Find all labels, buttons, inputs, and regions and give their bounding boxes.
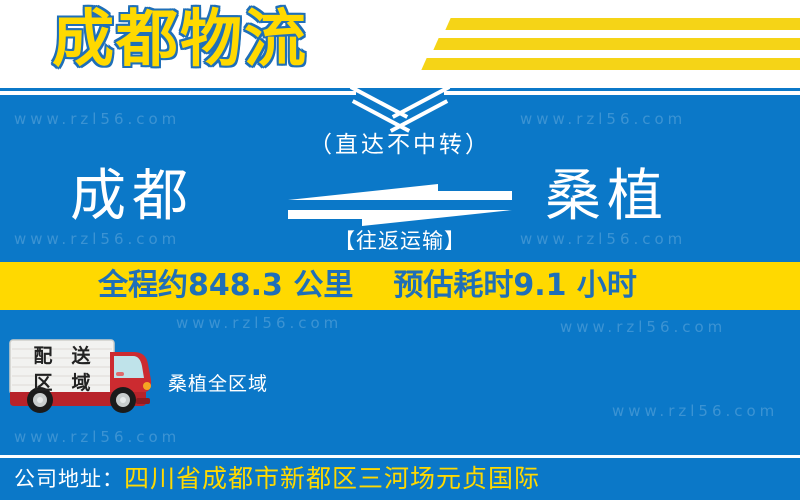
distance-stat: 全程约848.3 公里	[98, 268, 353, 304]
page-title: 成都物流	[52, 2, 308, 76]
watermark: www.rzl56.com	[176, 314, 342, 332]
address-label: 公司地址：	[14, 466, 124, 492]
watermark: www.rzl56.com	[14, 428, 180, 446]
coverage-area-label: 桑植全区域	[168, 372, 268, 396]
banner-header: 成都物流	[0, 0, 800, 88]
chevron-rule-left	[0, 91, 356, 95]
watermark: www.rzl56.com	[520, 230, 686, 248]
watermark: www.rzl56.com	[612, 402, 778, 420]
chevron-rule-right	[444, 91, 800, 95]
banner-footer: 公司地址： 四川省成都市新都区三河场元贞国际	[0, 458, 800, 500]
truck-box-label: 配 送 区 域	[24, 342, 100, 398]
duration-stat: 预估耗时9.1 小时	[393, 268, 637, 304]
header-stripe-3	[421, 58, 800, 70]
delivery-truck-icon: 配 送 区 域	[6, 336, 154, 414]
truck-box-char: 域	[62, 370, 100, 397]
header-stripe-1	[445, 18, 800, 30]
header-stripe-2	[433, 38, 800, 50]
truck-box-char: 区	[24, 370, 62, 397]
bidirectional-arrow-icon	[288, 184, 512, 226]
watermark: www.rzl56.com	[560, 318, 726, 336]
route-stats-bar: 全程约848.3 公里 预估耗时9.1 小时	[0, 262, 800, 310]
watermark: www.rzl56.com	[14, 230, 180, 248]
truck-box-char: 配	[24, 343, 62, 370]
roundtrip-note: 【往返运输】	[268, 228, 532, 254]
route-panel: （直达不中转） 成都 桑植 【往返运输】 www.rzl56.com www.r…	[0, 88, 800, 262]
coverage-section: 配 送 区 域 桑植全区域 www.rzl56.com www.rzl56.co…	[0, 310, 800, 458]
double-chevron-down-icon	[0, 88, 800, 128]
address-value: 四川省成都市新都区三河场元贞国际	[124, 464, 540, 494]
direct-shipping-note: （直达不中转）	[0, 130, 800, 160]
logistics-banner: 成都物流 （直达不中转） 成都 桑植 【往返运输】 www.rzl56.com …	[0, 0, 800, 500]
origin-city: 成都	[70, 164, 194, 230]
truck-box-char: 送	[62, 343, 100, 370]
destination-city: 桑植	[545, 164, 669, 230]
